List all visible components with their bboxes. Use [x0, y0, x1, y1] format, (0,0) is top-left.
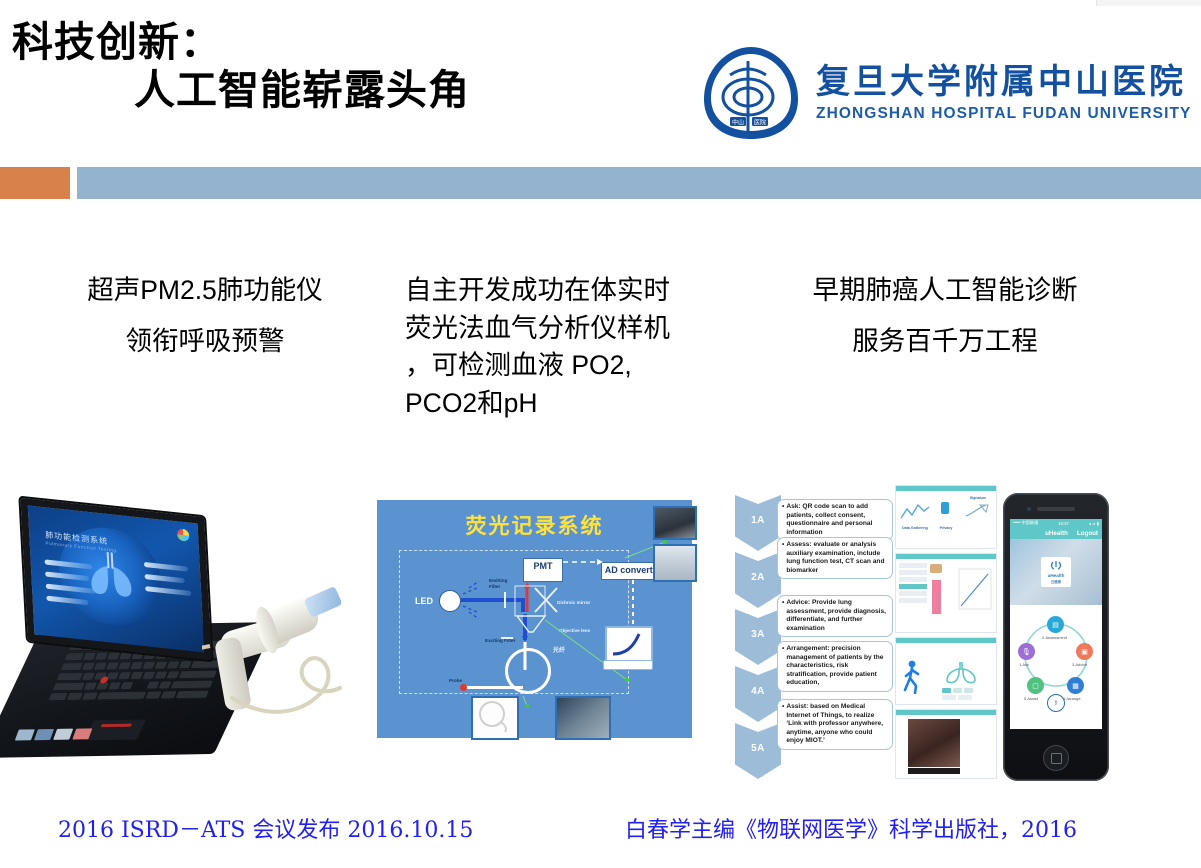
chevron-stack: 1A 2A 3A 4A 5A — [735, 495, 781, 779]
logo-chinese-name: 复旦大学附属中山医院 — [816, 65, 1192, 101]
node-5-assist[interactable]: ▢ — [1027, 677, 1044, 694]
column-1-heading: 超声PM2.5肺功能仪 领衔呼吸预警 — [30, 272, 380, 360]
screen-app-logo-icon — [177, 528, 190, 541]
chevron-1a-label: 1A — [735, 515, 781, 526]
title-line-2: 人工智能崭露头角 — [134, 66, 672, 114]
phone-mockup: ••••• 中国联通 16:37 ◂ ⊿ ▮ uHealth Logout uH… — [1003, 493, 1109, 781]
phone-bottom-hospital-logo: ⚕ — [1047, 694, 1065, 712]
bullet-callout-4: • Arrangement: precision management of p… — [777, 641, 893, 692]
bullet-marker-5: • — [782, 703, 784, 746]
laptop-screen: 肺功能检测系统 Pulmonary Function Testing — [20, 498, 211, 660]
node-3-advice[interactable]: ▣ — [1076, 643, 1093, 660]
chevron-4a-label: 4A — [735, 686, 781, 697]
node-5-assist-label: 5.Assist — [1024, 696, 1038, 701]
app-logo-subtitle: 云健康 — [1051, 579, 1061, 584]
figure-5a-miot: 1A 2A 3A 4A 5A • Ask: QR code scan to ad… — [735, 485, 1201, 785]
hospital-logo: 中山 医院 复旦大学附属中山医院 ZHONGSHAN HOSPITAL FUDA… — [700, 42, 1192, 146]
bullet-marker-2: • — [782, 541, 784, 575]
lock-icon — [941, 502, 949, 514]
probe-line — [465, 686, 523, 689]
figure-laptop-spirometer: 肺功能检测系统 Pulmonary Function Testing — [6, 492, 356, 772]
bullet-text-3: Advice: Provide lung assessment, provide… — [786, 599, 889, 633]
column-2-line-1: 自主开发成功在体实时 — [405, 272, 725, 310]
app-logo-title: uHealth — [1048, 573, 1065, 578]
column-3-line-1: 早期肺癌人工智能诊断 — [760, 272, 1130, 310]
device-photo-thumb-4 — [555, 696, 611, 740]
column-2-heading: 自主开发成功在体实时 荧光法血气分析仪样机 ，可检测血液 PO2, PCO2和p… — [405, 272, 725, 423]
phone-hero-image: uHealth 云健康 — [1010, 539, 1102, 605]
slide-canvas: 科技创新： 人工智能崭露头角 中山 医院 — [0, 0, 1201, 868]
bullet-callout-5: • Assist: based on Medical Internet of T… — [777, 699, 893, 750]
app-screenshot-1: Data Gathering Privacy Signature — [895, 485, 997, 549]
column-2-line-3: ，可检测血液 PO2, — [405, 347, 725, 385]
app-screenshot-4 — [895, 709, 997, 779]
app-name-label: uHealth — [1045, 530, 1068, 537]
device-photo-thumb-3 — [471, 696, 519, 740]
ct-scan-thumbnail — [908, 719, 960, 767]
phone-screen: ••••• 中国联通 16:37 ◂ ⊿ ▮ uHealth Logout uH… — [1010, 519, 1102, 729]
chevron-2a: 2A — [735, 552, 781, 608]
bullet-marker-3: • — [782, 599, 784, 633]
bullet-text-1: Ask: QR code scan to add patients, colle… — [786, 503, 889, 537]
fluorescence-optics-paths — [377, 500, 692, 738]
bullet-callout-2: • Assess: evaluate or analysis auxiliary… — [777, 537, 893, 579]
node-4-arrange[interactable]: ▦ — [1067, 677, 1084, 694]
bullet-marker-1: • — [782, 503, 784, 537]
device-photo-thumb-1 — [653, 506, 697, 540]
phone-status-bar: ••••• 中国联通 16:37 ◂ ⊿ ▮ — [1010, 519, 1102, 527]
laptop-sticker-badges — [15, 728, 93, 740]
page-title: 科技创新： 人工智能崭露头角 — [12, 18, 672, 115]
bar-chart-bar — [932, 580, 941, 614]
uhealth-mark-icon — [1049, 560, 1063, 572]
column-3-line-2: 服务百千万工程 — [760, 323, 1130, 361]
phone-home-button[interactable] — [1043, 745, 1069, 771]
column-3-heading: 早期肺癌人工智能诊断 服务百千万工程 — [760, 272, 1130, 360]
laptop-trackpad — [84, 719, 146, 740]
title-line-1: 科技创新： — [12, 18, 672, 66]
svg-text:中山: 中山 — [732, 119, 744, 127]
chevron-3a-label: 3A — [735, 629, 781, 640]
chevron-5a: 5A — [735, 723, 781, 779]
bullet-text-4: Arrangement: precision management of pat… — [786, 645, 889, 688]
status-carrier: ••••• 中国联通 — [1013, 520, 1038, 526]
chevron-4a: 4A — [735, 666, 781, 722]
spirometer-device — [202, 576, 352, 726]
chevron-2a-label: 2A — [735, 572, 781, 583]
logo-english-name: ZHONGSHAN HOSPITAL FUDAN UNIVERSITY — [816, 105, 1192, 123]
chevron-5a-label: 5A — [735, 743, 781, 754]
lungs-icon — [944, 660, 978, 684]
logout-button[interactable]: Logout — [1077, 530, 1098, 537]
node-2-assessment-label: 2.Assessment — [1042, 635, 1067, 640]
column-1-line-2: 领衔呼吸预警 — [30, 323, 380, 361]
spirometer-cable — [202, 576, 352, 726]
node-4-arrange-label: 4.Arrange — [1063, 696, 1081, 701]
accent-bar-blue — [77, 167, 1201, 199]
walking-person-icon — [902, 660, 922, 694]
status-time: 16:37 — [1058, 521, 1068, 526]
bullet-marker-4: • — [782, 645, 784, 688]
node-1-ask[interactable]: 🎙 — [1018, 643, 1035, 660]
app-screenshot-3 — [895, 637, 997, 705]
svg-text:医院: 医院 — [754, 119, 766, 127]
node-3-advice-label: 3.Advice — [1072, 662, 1087, 667]
bullet-text-5: Assist: based on Medical Internet of Thi… — [786, 703, 889, 746]
bullet-callouts: • Ask: QR code scan to add patients, col… — [777, 499, 893, 779]
node-2-assessment[interactable]: ▤ — [1047, 616, 1064, 633]
footer-right: 白春学主编《物联网医学》科学出版社，2016 — [625, 812, 1077, 844]
node-1-ask-label: 1.Ask — [1019, 662, 1029, 667]
hospital-emblem-icon: 中山 医院 — [700, 45, 804, 143]
app-screenshot-column: Data Gathering Privacy Signature — [895, 485, 1000, 785]
screenshot-caption-privacy: Privacy — [932, 526, 960, 530]
bullet-callout-3: • Advice: Provide lung assessment, provi… — [777, 595, 893, 637]
phone-nav-bar: uHealth Logout — [1010, 527, 1102, 539]
phone-speaker-grill — [1037, 507, 1075, 511]
footer-left: 2016 ISRD－ATS 会议发布 2016.10.15 — [58, 812, 473, 844]
bullet-text-2: Assess: evaluate or analysis auxiliary e… — [786, 541, 889, 575]
column-1-line-1: 超声PM2.5肺功能仪 — [30, 272, 380, 310]
lung-graphic-icon — [81, 545, 140, 603]
phone-5a-ring: ▤ 2.Assessment 🎙 1.Ask ▣ 3.Advice ▢ 5.As… — [1010, 605, 1102, 715]
device-photo-thumb-2 — [653, 544, 697, 582]
screenshot-caption-data-gathering: Data Gathering — [898, 526, 932, 530]
chevron-1a: 1A — [735, 495, 781, 551]
computer-monitor-graphic — [603, 626, 651, 670]
chevron-3a: 3A — [735, 609, 781, 665]
window-top-sliver — [1096, 0, 1201, 6]
screenshot-caption-signature: Signature — [962, 496, 994, 500]
column-2-line-2: 荧光法血气分析仪样机 — [405, 310, 725, 348]
column-headings: 超声PM2.5肺功能仪 领衔呼吸预警 自主开发成功在体实时 荧光法血气分析仪样机… — [0, 272, 1201, 452]
figure-fluorescence-system: 荧光记录系统 LED PMT AD converter Emitting Fil… — [377, 500, 692, 738]
accent-bar-orange — [0, 167, 70, 199]
column-2-line-4: PCO2和pH — [405, 385, 725, 423]
status-battery: ◂ ⊿ ▮ — [1089, 521, 1099, 526]
app-logo-card: uHealth 云健康 — [1041, 557, 1071, 587]
app-screenshot-2 — [895, 553, 997, 633]
phone-front-camera-icon — [1027, 507, 1031, 511]
bullet-callout-1: • Ask: QR code scan to add patients, col… — [777, 499, 893, 541]
